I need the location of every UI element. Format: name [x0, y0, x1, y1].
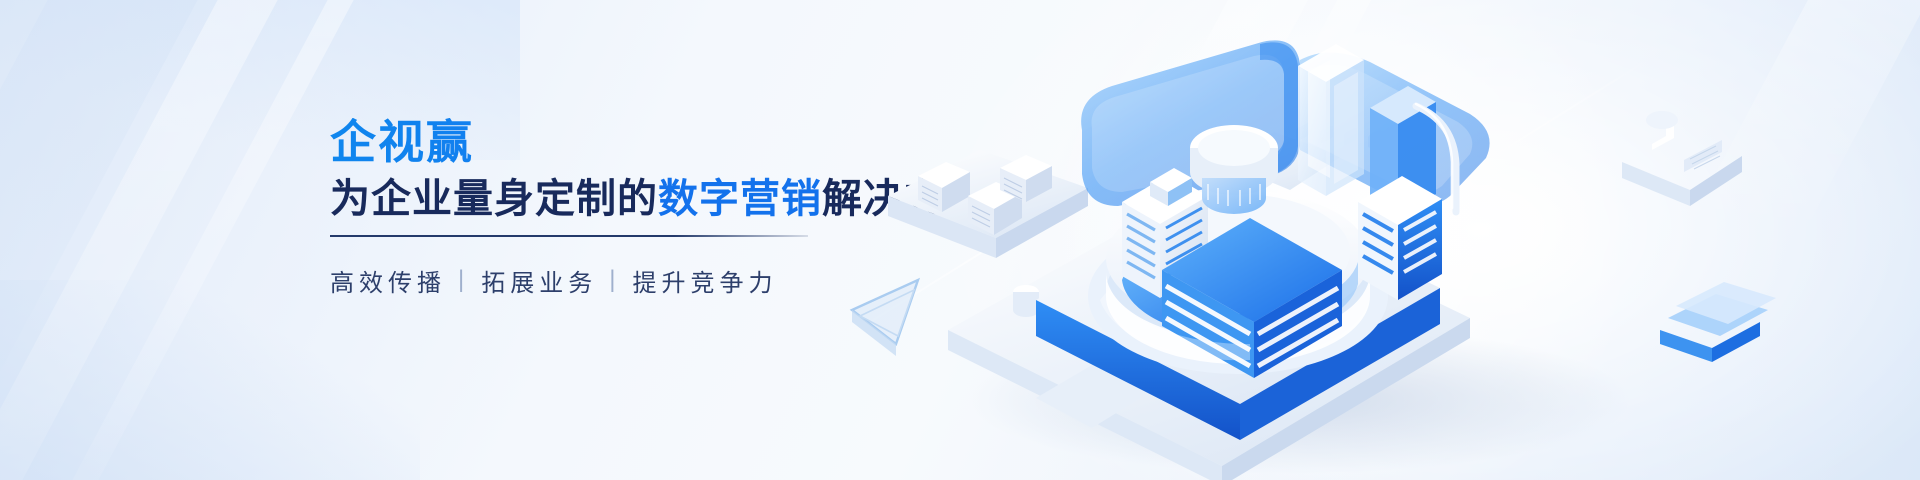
small-city-block-card [888, 150, 1088, 258]
feature-item-1: 高效传播 [330, 263, 446, 298]
feature-separator-2: | [609, 266, 620, 294]
wire-triangle-prism [852, 280, 918, 356]
plate-post [1013, 285, 1039, 317]
glass-spire [1298, 44, 1364, 196]
headline-highlight: 数字营销 [658, 177, 822, 221]
striped-office-block [1358, 176, 1442, 300]
headline-divider [330, 235, 808, 237]
feature-separator-1: | [458, 266, 469, 294]
data-silo-cylinder [1190, 125, 1278, 214]
isometric-city-illustration [830, 0, 1920, 480]
feature-item-3: 提升竞争力 [632, 263, 777, 298]
feature-item-2: 拓展业务 [481, 263, 597, 298]
marketing-hero-banner: 企视赢 为企业量身定制的数字营销解决方案 高效传播 | 拓展业务 | 提升竞争力 [0, 0, 1920, 480]
headline-before: 为企业量身定制的 [330, 177, 658, 221]
